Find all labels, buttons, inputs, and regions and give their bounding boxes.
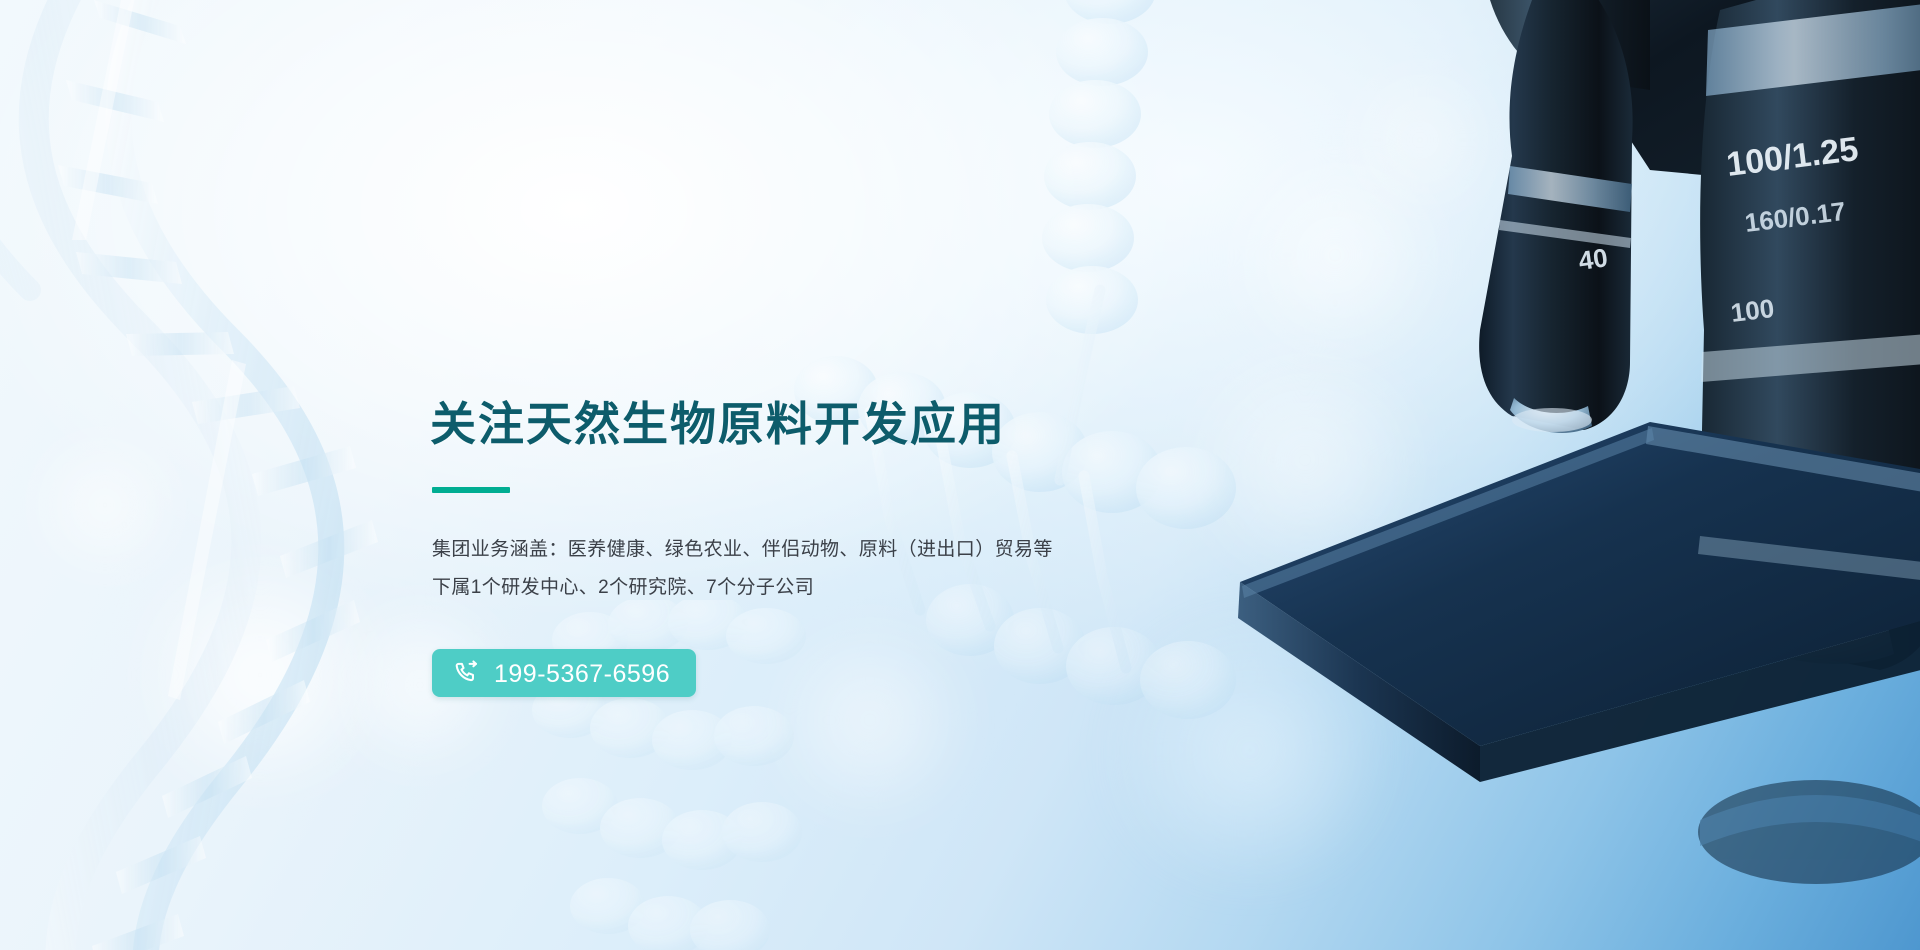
objective-label-100: 100 bbox=[1729, 293, 1776, 328]
page-title: 关注天然生物原料开发应用 bbox=[430, 395, 1250, 453]
objective-label-40: 40 bbox=[1577, 242, 1610, 276]
title-divider bbox=[432, 487, 510, 493]
description-line-1: 集团业务涵盖：医养健康、绿色农业、伴侣动物、原料（进出口）贸易等 bbox=[432, 531, 1250, 569]
hero-banner: 40 100/1.25 160/0.17 100 bbox=[0, 0, 1920, 950]
phone-cta-button[interactable]: 199-5367-6596 bbox=[432, 649, 696, 697]
description-line-2: 下属1个研发中心、2个研究院、7个分子公司 bbox=[432, 569, 1250, 607]
phone-number: 199-5367-6596 bbox=[494, 662, 670, 687]
microscope-graphic: 40 100/1.25 160/0.17 100 bbox=[1180, 0, 1920, 950]
hero-content: 关注天然生物原料开发应用 集团业务涵盖：医养健康、绿色农业、伴侣动物、原料（进出… bbox=[430, 395, 1250, 697]
hero-description: 集团业务涵盖：医养健康、绿色农业、伴侣动物、原料（进出口）贸易等 下属1个研发中… bbox=[432, 531, 1250, 607]
phone-forward-icon bbox=[454, 660, 480, 686]
